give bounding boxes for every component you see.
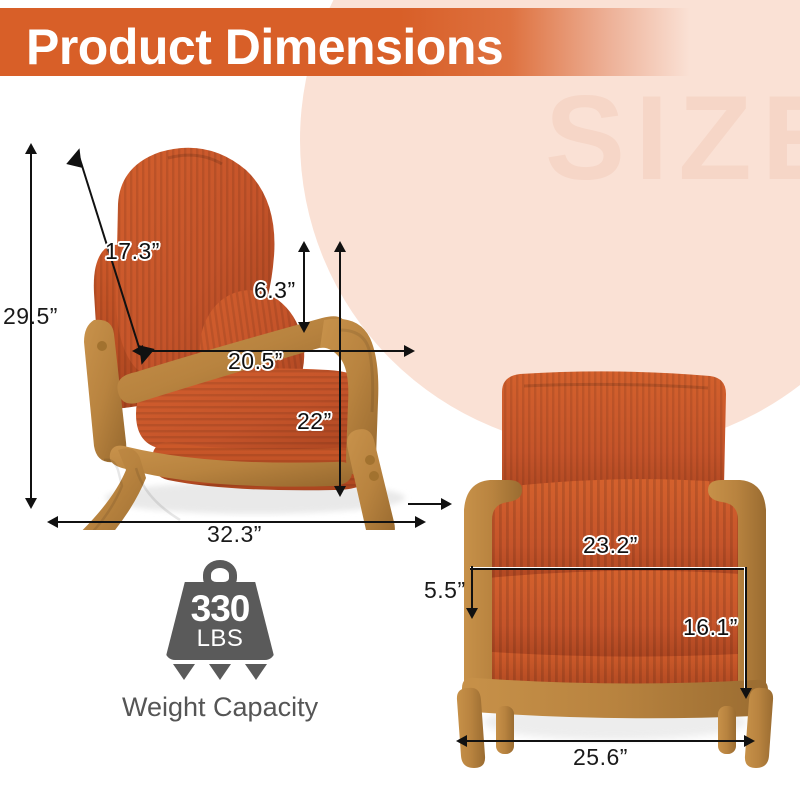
infographic-canvas: SIZE Product Dimensions [0,0,800,800]
arrowhead-height-bottom [25,498,37,509]
front-view-chair-illustration [450,370,780,770]
dim-label-arm-gap: 6.3” [254,277,296,304]
dim-label-cushion-thickness: 5.5” [424,577,466,604]
weight-capacity-badge: 330 LBS Weight Capacity [150,560,290,723]
dim-label-seat-width: 23.2” [583,532,638,559]
dim-label-backrest: 17.3” [105,238,160,265]
arrowhead-depth-right [415,516,426,528]
arrowhead-armgap-bottom [298,322,310,333]
dim-label-overall-depth: 32.3” [207,521,262,548]
size-watermark-text: SIZE [545,78,800,198]
dim-label-overall-width: 25.6” [573,744,628,771]
arrowhead-width-right [744,735,755,747]
weight-unit: LBS [165,627,275,651]
page-title: Product Dimensions [26,18,503,76]
triangle-down-icon-2 [209,664,231,680]
weight-number: 330 [165,590,275,627]
dim-line-back-height [339,248,341,490]
arrowhead-height-top [25,143,37,154]
weight-icon: 330 LBS [165,560,275,660]
arrowhead-seatdepth-left [132,345,143,357]
arrowhead-backheight-bottom [334,486,346,497]
arrowhead-armgap-top [298,241,310,252]
dim-label-back-height: 22” [297,408,332,435]
arrowhead-cushion-bottom [466,608,478,619]
arrowhead-backheight-top [334,241,346,252]
triangle-down-icon-1 [173,664,195,680]
arrowhead-width-left [456,735,467,747]
dim-line-arm-gap [303,248,305,326]
side-view-chair-illustration [40,130,440,530]
arrowhead-depth-left [47,516,58,528]
arrowhead-connector [441,498,452,510]
dim-line-seat-width [470,568,745,570]
dim-line-seat-height [745,567,747,692]
header-banner: Product Dimensions [0,8,690,76]
arrowhead-seatheight-bottom [740,688,752,699]
triangle-down-icon-3 [245,664,267,680]
dim-label-seat-depth: 20.5” [228,348,283,375]
dim-label-height: 29.5” [3,303,58,330]
dim-line-cushion-thickness [471,566,473,612]
arrowhead-seatdepth-right [404,345,415,357]
weight-arrows-row [165,664,275,682]
weight-capacity-caption: Weight Capacity [122,692,290,723]
dim-label-seat-height: 16.1” [683,614,738,641]
dim-line-overall-width [465,740,750,742]
